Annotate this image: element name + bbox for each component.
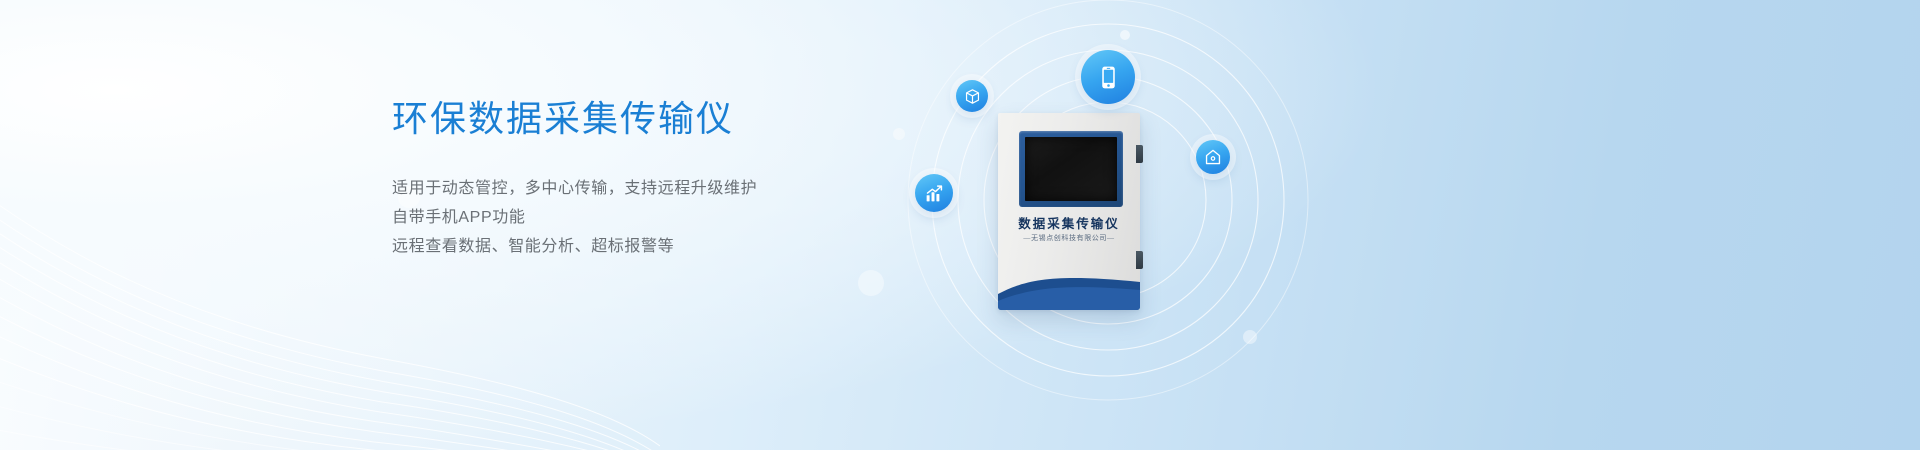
box-icon[interactable]	[956, 80, 988, 112]
phone-icon[interactable]	[1081, 50, 1135, 104]
product-hero-banner: 环保数据采集传输仪 适用于动态管控，多中心传输，支持远程升级维护 自带手机APP…	[0, 0, 1920, 450]
page-title: 环保数据采集传输仪	[392, 96, 912, 142]
device-lcd-screen	[1025, 137, 1117, 201]
hero-subtitle-line-3: 远程查看数据、智能分析、超标报警等	[392, 232, 912, 261]
device-product-label: 数据采集传输仪	[998, 213, 1140, 232]
data-acquisition-device: 数据采集传输仪 —无锡点创科技有限公司—	[998, 113, 1140, 310]
hero-subtitle-line-2: 自带手机APP功能	[392, 203, 912, 232]
device-footer-wave	[998, 268, 1140, 310]
chart-icon[interactable]	[915, 174, 953, 212]
device-screen-bezel	[1019, 131, 1123, 207]
product-graphic-stage: 数据采集传输仪 —无锡点创科技有限公司—	[850, 0, 1410, 450]
device-hinge-top	[1136, 145, 1143, 163]
hero-subtitle-line-1: 适用于动态管控，多中心传输，支持远程升级维护	[392, 174, 912, 203]
device-hinge-bottom	[1136, 251, 1143, 269]
hero-copy: 环保数据采集传输仪 适用于动态管控，多中心传输，支持远程升级维护 自带手机APP…	[392, 96, 912, 261]
device-company-label: —无锡点创科技有限公司—	[998, 233, 1140, 243]
hero-subtitle-list: 适用于动态管控，多中心传输，支持远程升级维护 自带手机APP功能 远程查看数据、…	[392, 174, 912, 261]
alarm-icon[interactable]	[1196, 140, 1230, 174]
